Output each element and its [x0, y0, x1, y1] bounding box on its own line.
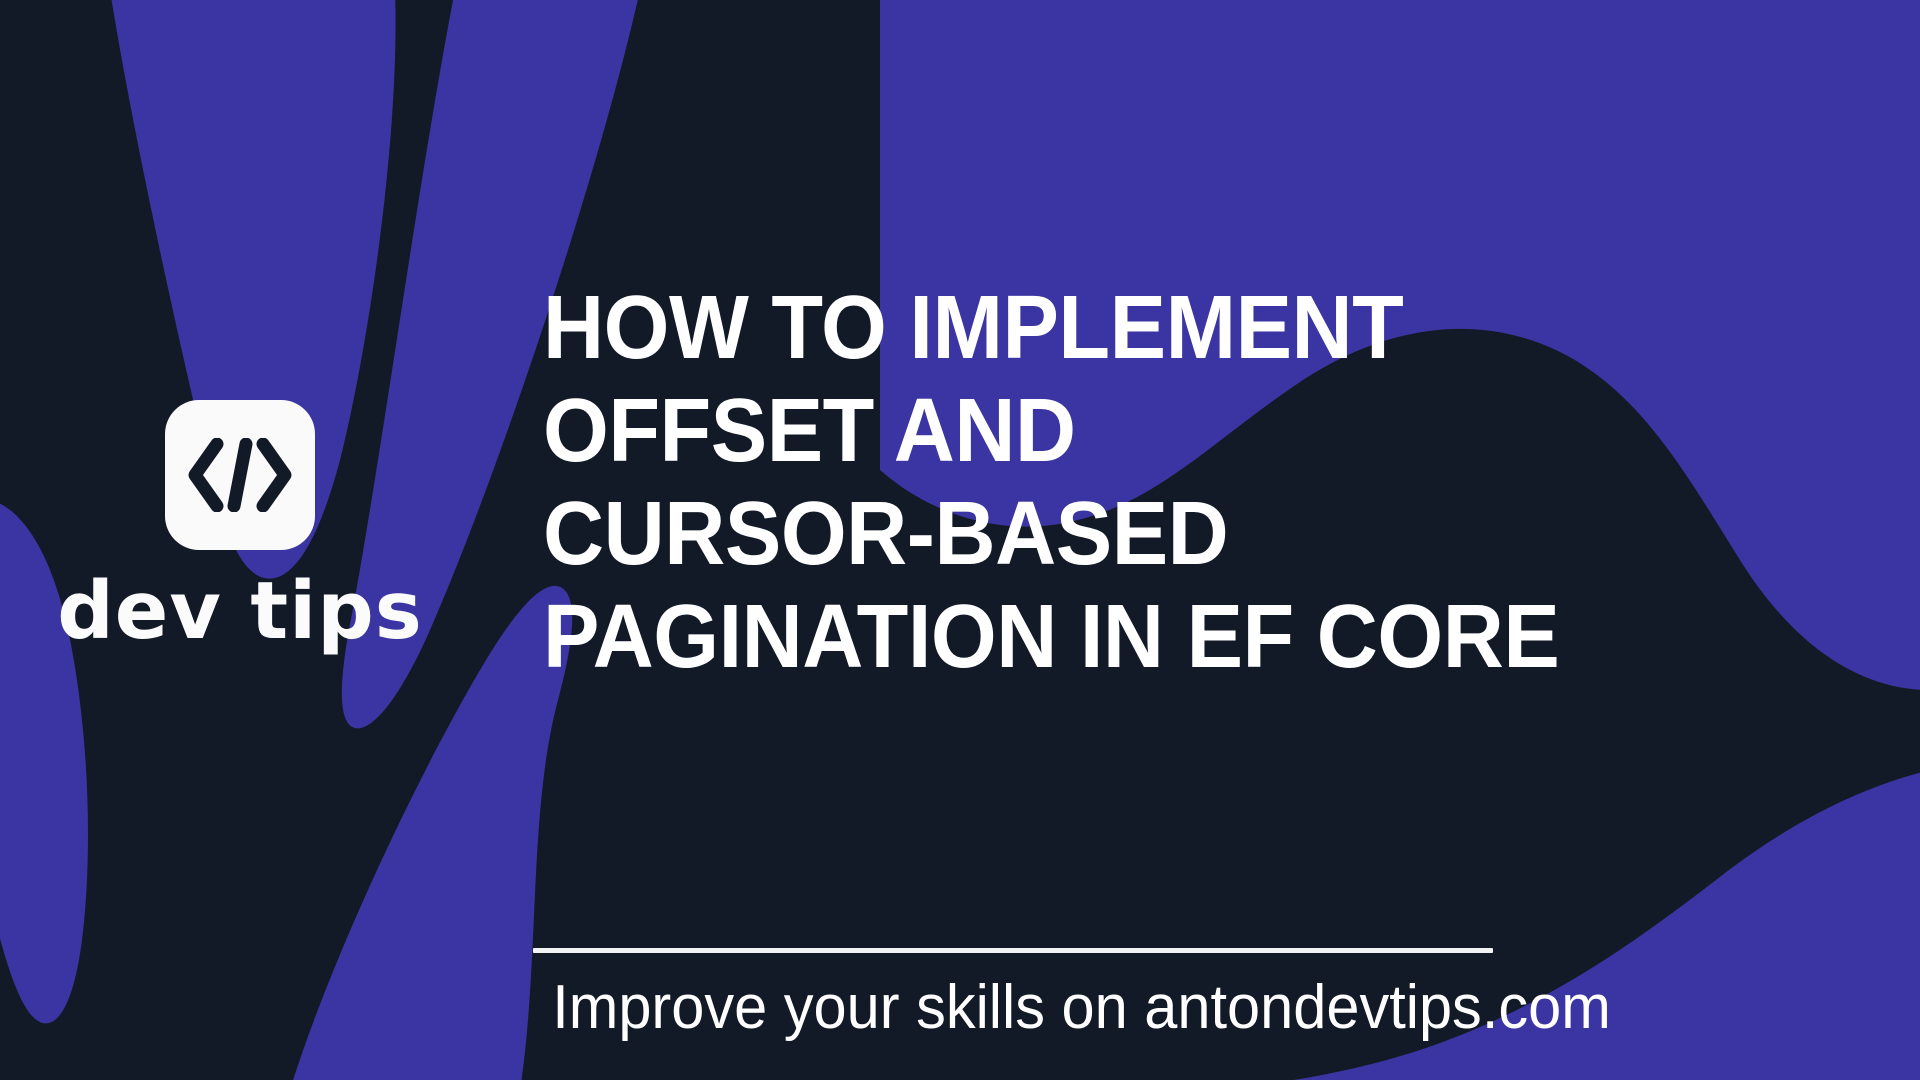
code-brackets-icon — [188, 438, 292, 512]
footer-divider — [533, 948, 1493, 953]
logo-mark — [165, 400, 315, 550]
blog-cover-canvas: dev tips HOW TO IMPLEMENT OFFSET AND CUR… — [0, 0, 1920, 1080]
shape-bottom-center-wedge — [290, 586, 572, 1080]
footer-block: Improve your skills on antondevtips.com — [533, 948, 1493, 1043]
brand-block: dev tips — [0, 400, 480, 651]
page-title: HOW TO IMPLEMENT OFFSET AND CURSOR-BASED… — [543, 277, 1803, 689]
title-line: PAGINATION IN EF CORE — [543, 586, 1803, 689]
title-line: CURSOR-BASED — [543, 483, 1803, 586]
brand-wordmark: dev tips — [57, 572, 423, 651]
title-line: OFFSET AND — [543, 380, 1803, 483]
title-line: HOW TO IMPLEMENT — [543, 277, 1803, 380]
footer-tagline: Improve your skills on antondevtips.com — [552, 973, 1474, 1043]
